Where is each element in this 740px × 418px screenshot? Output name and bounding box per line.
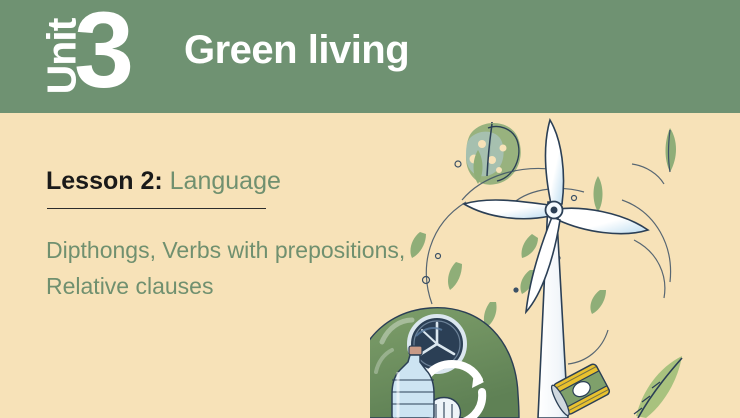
- lesson-topic: Language: [170, 167, 281, 195]
- unit-title: Green living: [184, 30, 409, 70]
- slide-root: Unit 3 Green living Lesson 2: Language D…: [0, 0, 740, 418]
- globe-compass-icon: [409, 316, 465, 372]
- bottom-right-leaf-icon: [634, 356, 682, 418]
- wind-turbine-icon: [464, 120, 648, 418]
- right-floating-leaf-icon: [666, 128, 677, 172]
- lesson-label: Lesson 2:: [46, 167, 163, 195]
- monstera-leaf-icon: [466, 122, 521, 185]
- recycle-symbol-icon: [412, 364, 484, 418]
- green-hill-icon: [370, 308, 519, 418]
- lesson-description: Dipthongs, Verbs with prepositions, Rela…: [46, 233, 446, 304]
- unit-number: 3: [74, 0, 131, 104]
- lesson-heading: Lesson 2: Language: [46, 168, 281, 196]
- header-band: Unit 3 Green living: [0, 0, 740, 113]
- plastic-bottle-icon: [392, 346, 434, 418]
- soda-can-icon: [549, 363, 611, 417]
- lesson-underline: [47, 208, 266, 209]
- wind-swirls-icon: [426, 164, 670, 364]
